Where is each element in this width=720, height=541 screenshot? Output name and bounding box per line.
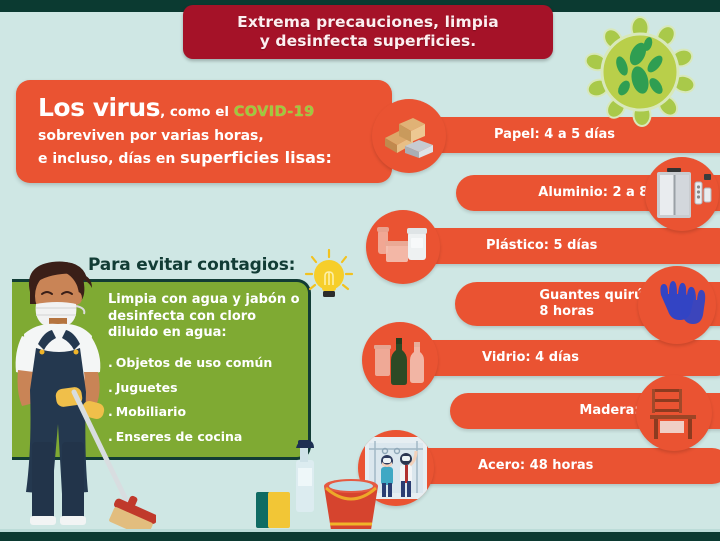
plastic-containers-icon: [366, 210, 440, 284]
header-line-1: Extrema precauciones, limpia: [237, 13, 499, 31]
header-line-2: y desinfecta superficies.: [260, 32, 477, 50]
glass-bottles-icon: [362, 322, 438, 398]
elevator-icon: [645, 157, 719, 231]
intro-line-2: sobreviven por varias horas,: [38, 127, 376, 147]
cardboard-boxes-icon: [372, 99, 446, 173]
cleaning-worker-illustration: [6, 252, 156, 541]
surface-label-vidrio: Vidrio: 4 días: [482, 350, 579, 366]
bottom-dark-bar: [0, 532, 720, 541]
intro-box: Los virus, como el COVID-19 sobreviven p…: [16, 80, 392, 183]
intro-line-1: Los virus, como el COVID-19: [38, 94, 376, 123]
cleaning-supplies-illustration: [252, 438, 392, 541]
surgical-gloves-icon: [638, 266, 716, 344]
intro-line-3-a: e incluso, días en: [38, 151, 180, 167]
header-text: Extrema precauciones, limpia y desinfect…: [237, 13, 499, 52]
lightbulb-icon: [302, 248, 356, 310]
intro-after-headline: , como el: [160, 104, 234, 120]
surface-label-plastico: Plástico: 5 días: [486, 238, 597, 254]
surface-label-acero: Acero: 48 horas: [478, 458, 593, 474]
intro-line-3-b: superficies lisas:: [180, 148, 332, 167]
wooden-furniture-icon: [636, 375, 712, 451]
header-banner: Extrema precauciones, limpia y desinfect…: [183, 5, 553, 59]
intro-line-3: e incluso, días en superficies lisas:: [38, 147, 376, 170]
infographic-poster: Extrema precauciones, limpia y desinfect…: [0, 0, 720, 541]
coronavirus-illustration: [580, 16, 700, 132]
prevention-title-colon: :: [289, 255, 296, 275]
intro-headline: Los virus: [38, 93, 160, 122]
covid-label: COVID-19: [234, 104, 315, 120]
